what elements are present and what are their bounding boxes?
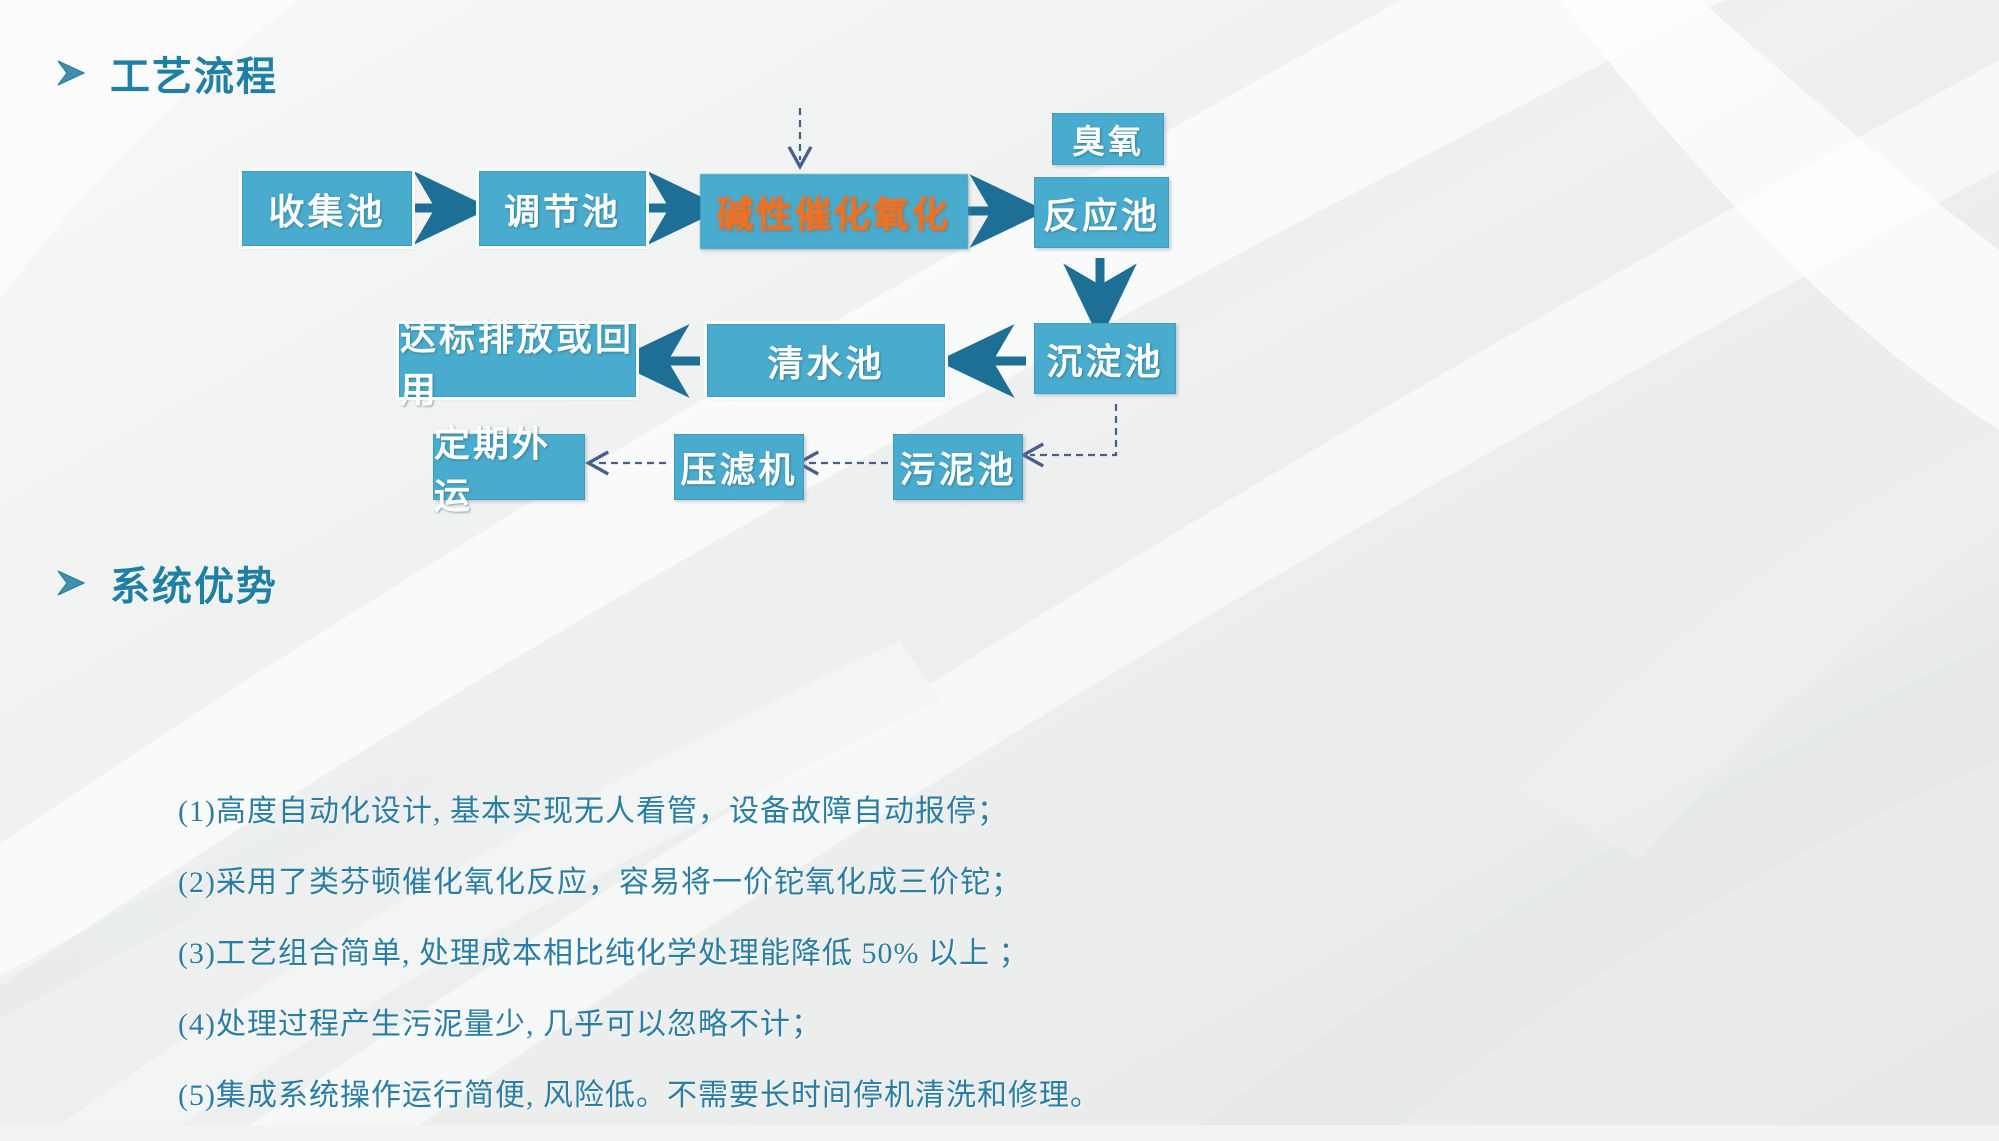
flow-node-regulate-label: 调节池 — [504, 183, 621, 235]
flow-node-oxidation-label: 碱性催化氧化 — [717, 186, 951, 238]
flow-node-discharge-label: 达标排放或回用 — [400, 309, 635, 413]
edge-sediment-sludge — [1030, 404, 1116, 455]
flow-node-sediment[interactable]: 沉淀池 — [1034, 323, 1176, 394]
flow-node-filterpress-label: 压滤机 — [680, 441, 797, 493]
flow-node-sludge[interactable]: 污泥池 — [893, 434, 1023, 500]
flow-node-ozone[interactable]: 臭氧 — [1052, 113, 1164, 165]
flow-node-transport-label: 定期外运 — [434, 415, 584, 519]
flow-node-collect-label: 收集池 — [268, 183, 385, 235]
flow-node-collect[interactable]: 收集池 — [242, 171, 412, 246]
chevron-right-bullet-icon — [54, 566, 88, 600]
flow-node-transport[interactable]: 定期外运 — [433, 434, 585, 500]
flow-node-regulate[interactable]: 调节池 — [479, 171, 646, 246]
advantage-item-5: (5)集成系统操作运行简便, 风险低。不需要长时间停机清洗和修理。 — [178, 1070, 1578, 1114]
section-heading-advantages: 系统优势 — [54, 554, 278, 612]
flow-node-ozone-label: 臭氧 — [1072, 115, 1144, 163]
advantage-item-4: (4)处理过程产生污泥量少, 几乎可以忽略不计； — [178, 999, 1578, 1043]
flow-node-clearwater[interactable]: 清水池 — [707, 324, 945, 397]
flow-node-reaction-label: 反应池 — [1043, 187, 1160, 239]
flow-node-sediment-label: 沉淀池 — [1046, 333, 1163, 385]
flow-node-filterpress[interactable]: 压滤机 — [674, 434, 804, 500]
flow-node-sludge-label: 污泥池 — [899, 441, 1016, 493]
advantage-item-3: (3)工艺组合简单, 处理成本相比纯化学处理能降低 50% 以上 ； — [178, 928, 1578, 972]
flow-node-discharge[interactable]: 达标排放或回用 — [399, 324, 636, 397]
flow-connectors — [0, 0, 1999, 640]
flow-node-clearwater-label: 清水池 — [767, 335, 884, 387]
process-flow-diagram: 臭氧 收集池 调节池 碱性催化氧化 反应池 沉淀池 清水池 达标排放或回用 污泥… — [0, 0, 1999, 640]
flow-node-oxidation[interactable]: 碱性催化氧化 — [700, 174, 968, 249]
advantage-item-1: (1)高度自动化设计, 基本实现无人看管，设备故障自动报停； — [178, 786, 1578, 830]
section-title-advantages: 系统优势 — [110, 554, 278, 612]
advantages-list: (1)高度自动化设计, 基本实现无人看管，设备故障自动报停； (2)采用了类芬顿… — [178, 786, 1578, 1141]
flow-node-reaction[interactable]: 反应池 — [1034, 177, 1169, 248]
advantage-item-2: (2)采用了类芬顿催化氧化反应，容易将一价铊氧化成三价铊； — [178, 857, 1578, 901]
